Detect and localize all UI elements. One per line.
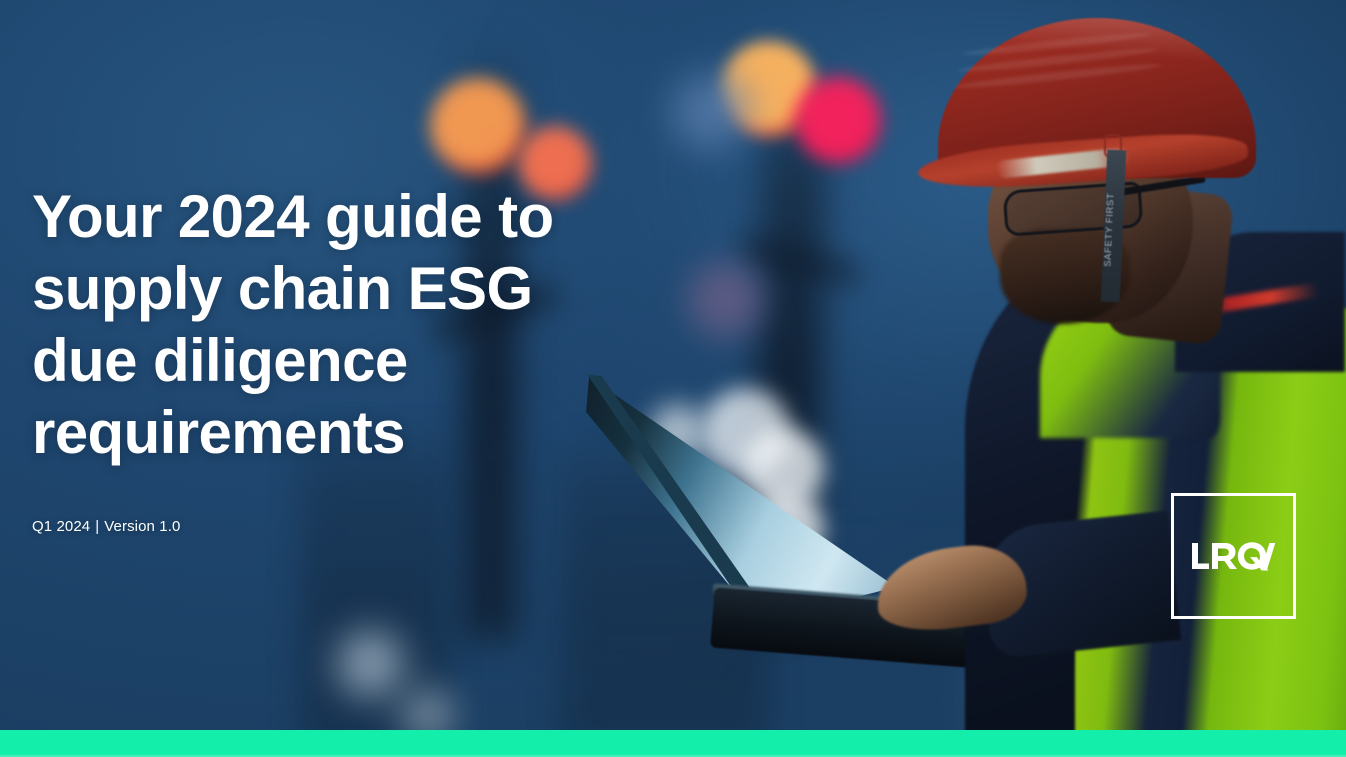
page-title-line: supply chain ESG bbox=[32, 255, 533, 322]
page-title-line: Your 2024 guide to bbox=[32, 183, 554, 250]
page-title-line: due diligence bbox=[32, 327, 408, 394]
lrqa-logo bbox=[1171, 493, 1296, 619]
quarter-label: Q1 2024 bbox=[32, 518, 90, 535]
version-label: Version 1.0 bbox=[104, 518, 180, 535]
accent-bar bbox=[0, 730, 1346, 757]
page-title: Your 2024 guide tosupply chain ESGdue di… bbox=[32, 181, 672, 469]
report-cover-page: SAFETY FIRST Your 2024 guide tosupply ch… bbox=[0, 0, 1346, 757]
lrqa-wordmark-icon bbox=[1191, 541, 1277, 571]
page-title-line: requirements bbox=[32, 399, 405, 466]
meta-separator: | bbox=[90, 518, 104, 535]
version-meta: Q1 2024|Version 1.0 bbox=[32, 518, 180, 535]
